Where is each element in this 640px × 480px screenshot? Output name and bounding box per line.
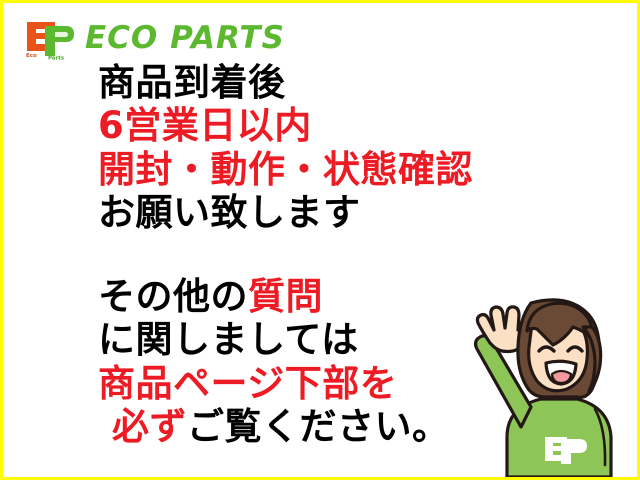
- brand-wordmark: ECO PARTS: [85, 23, 285, 54]
- primary-line-1: 商品到着後: [98, 61, 568, 104]
- eco-parts-mark-icon: Eco Parts: [21, 16, 77, 60]
- primary-line-2: 6営業日以内: [98, 104, 568, 147]
- secondary-line-1-black: その他の: [98, 275, 248, 318]
- primary-line-4: お願い致します: [98, 191, 568, 234]
- waving-woman-illustration: [449, 287, 629, 477]
- brand-logo: Eco Parts ECO PARTS: [21, 15, 285, 61]
- secondary-line-4-red: 必ず: [112, 405, 187, 448]
- secondary-line-1-red: 質問: [248, 275, 323, 318]
- secondary-line-4-black: ご覧ください。: [187, 405, 450, 448]
- primary-line-3: 開封・動作・状態確認: [98, 148, 568, 191]
- notice-banner: Eco Parts ECO PARTS 商品到着後 6営業日以内 開封・動作・状…: [0, 0, 640, 480]
- svg-text:Eco: Eco: [26, 53, 37, 59]
- svg-text:Parts: Parts: [48, 56, 65, 61]
- primary-message-block: 商品到着後 6営業日以内 開封・動作・状態確認 お願い致します: [98, 61, 568, 234]
